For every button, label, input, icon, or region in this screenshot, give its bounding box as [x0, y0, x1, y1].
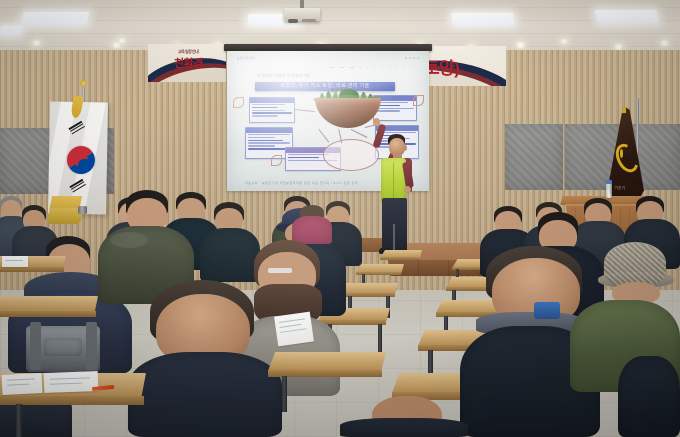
- org-flag-text: 기관기: [614, 186, 625, 191]
- ceiling-downlight: [32, 40, 41, 46]
- ceiling-panel-light: [594, 10, 659, 23]
- slide-dot-row: · · · · · · · · · — — — · · · · · · · ·: [265, 65, 414, 70]
- handout-paper[interactable]: [2, 373, 43, 395]
- slide-title-text: 토양의, 유기 지소 토양, 비료 관리 기술: [255, 82, 395, 91]
- wall-stone-panel: [505, 124, 563, 190]
- blue-bag[interactable]: [534, 302, 560, 319]
- slide-leaf-icon: [233, 97, 244, 108]
- slide-leaf-icon: [271, 155, 282, 166]
- slide-subtitle: ※ 탄소는 어떻게 써 뭉쳐서 가는: [257, 73, 311, 79]
- lecturer-pointing-hand: [373, 118, 380, 126]
- slide-box-left-upper: [249, 97, 295, 123]
- org-emblem-dot-icon: [620, 149, 623, 157]
- banner-left-headline: 친환경: [174, 55, 203, 71]
- slide-connector-arrow: [295, 109, 315, 112]
- hat-pattern: [604, 243, 666, 287]
- handout-paper[interactable]: [44, 371, 99, 393]
- slide-header-text: 농업기술센터: [237, 56, 255, 60]
- ceiling-downlight: [660, 40, 669, 46]
- slide-title-bar: 토양의, 유기 지소 토양, 비료 관리 기술: [255, 82, 395, 91]
- projector-lens: [288, 19, 298, 23]
- wall-stone-panel: [0, 128, 54, 194]
- projector-vent: [302, 19, 316, 22]
- screen-casing: [224, 44, 432, 51]
- ceiling-panel-light: [0, 26, 23, 35]
- slide-footer-text: 자료출처 : 농촌진흥청 국립농업과학원 토양·비료 연구과 / 2024 토양…: [245, 181, 358, 185]
- ceiling-downlight: [118, 38, 126, 43]
- lecturer-vest-seam: [393, 162, 394, 198]
- handout-paper[interactable]: [2, 256, 28, 267]
- lecturer: [360, 118, 430, 268]
- banner-right-headline: 토양): [424, 54, 459, 79]
- flagpole-finial: [80, 80, 87, 87]
- ceiling-downlight: [112, 42, 121, 48]
- banner-left: 교육 일정 안내 친환경: [148, 44, 226, 82]
- ceiling-panel-light: [20, 12, 89, 25]
- ceiling-downlight: [516, 42, 525, 48]
- lecturer-leg-gap: [393, 224, 395, 252]
- lecture-hall-photo: 교육 일정 안내 친환경 토양) 농업기술센터 2 0 2 4 · · · · …: [0, 0, 680, 437]
- flagpole-base: [78, 206, 87, 214]
- lecturer-hand-lowered: [404, 186, 411, 193]
- slide-connector-arrow: [319, 129, 329, 142]
- lecturer-forearm-raised: [372, 124, 386, 149]
- ceiling-panel-light: [451, 13, 514, 25]
- water-bottle[interactable]: [606, 183, 612, 198]
- slide-leaf-icon: [413, 95, 424, 106]
- slide-corner-code: 2 0 2 4: [405, 56, 420, 60]
- handout-paper[interactable]: [274, 312, 314, 347]
- ceiling-downlight: [560, 39, 568, 44]
- lecturer-ear: [403, 145, 407, 151]
- bottle-cap: [606, 180, 612, 184]
